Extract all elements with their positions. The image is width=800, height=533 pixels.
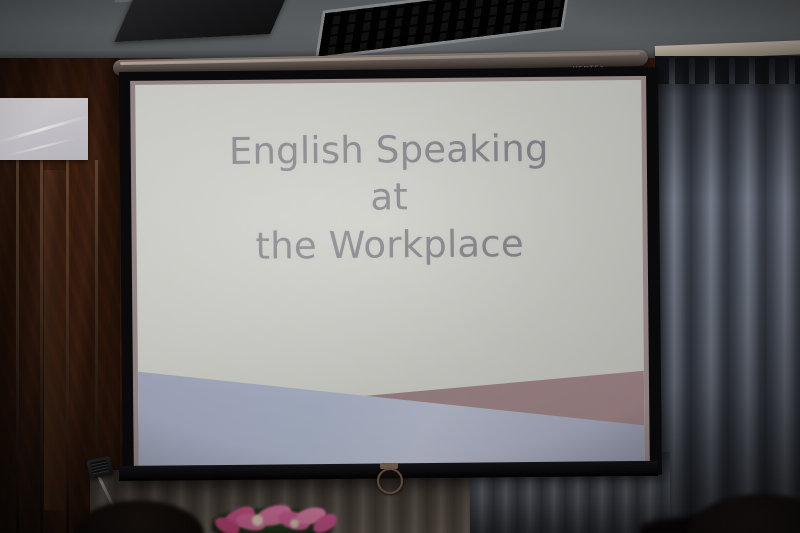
- flower-center: [252, 515, 263, 526]
- slide-title: English Speaking at the Workplace: [136, 124, 643, 271]
- screen-border-margin: English Speaking at the Workplace: [130, 76, 650, 471]
- panel-groove: [40, 160, 43, 533]
- flower-center: [290, 519, 299, 528]
- presentation-photo: VERTEX English Speaking at the Workplace: [0, 0, 800, 533]
- presentation-slide: English Speaking at the Workplace: [135, 80, 645, 467]
- slide-title-line-2: at: [136, 171, 642, 223]
- slide-title-line-3: the Workplace: [136, 219, 642, 271]
- window-curtain[interactable]: [655, 56, 800, 533]
- panel-groove: [16, 160, 19, 533]
- curtain-top-shadow: [655, 56, 800, 96]
- panel-groove: [66, 160, 69, 533]
- slide-title-line-1: English Speaking: [136, 124, 642, 176]
- screen-pull-hook-icon[interactable]: [377, 468, 403, 494]
- projection-screen: English Speaking at the Workplace: [119, 67, 662, 480]
